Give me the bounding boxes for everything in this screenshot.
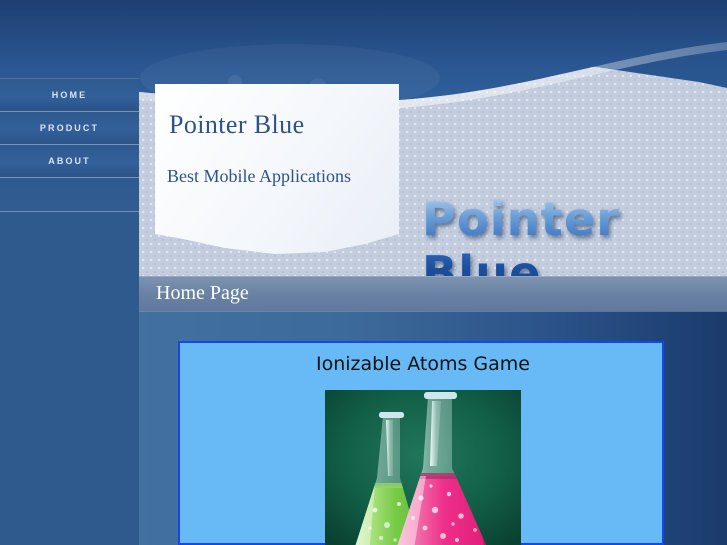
sidebar-item-about[interactable]: ABOUT	[0, 145, 139, 178]
sidebar-item-label: ABOUT	[48, 156, 91, 166]
sidebar-nav: HOME PRODUCT ABOUT	[0, 78, 139, 212]
sidebar-filler	[0, 178, 139, 212]
sidebar-item-label: PRODUCT	[40, 123, 99, 133]
two-flasks-icon	[325, 390, 521, 545]
site-tagline: Best Mobile Applications	[167, 166, 351, 187]
site-title: Pointer Blue	[169, 110, 305, 140]
sidebar-item-product[interactable]: PRODUCT	[0, 112, 139, 145]
game-title: Ionizable Atoms Game	[180, 353, 666, 375]
sidebar-item-home[interactable]: HOME	[0, 78, 139, 112]
sidebar-item-label: HOME	[52, 90, 87, 100]
page-root: HOME PRODUCT ABOUT Pointer Blue Best Mob…	[0, 0, 727, 545]
site-banner-paper: Pointer Blue Best Mobile Applications	[155, 84, 399, 256]
game-promo-panel[interactable]: Ionizable Atoms Game	[178, 341, 664, 545]
page-title-bar: Home Page	[139, 276, 727, 312]
page-title: Home Page	[156, 282, 249, 305]
